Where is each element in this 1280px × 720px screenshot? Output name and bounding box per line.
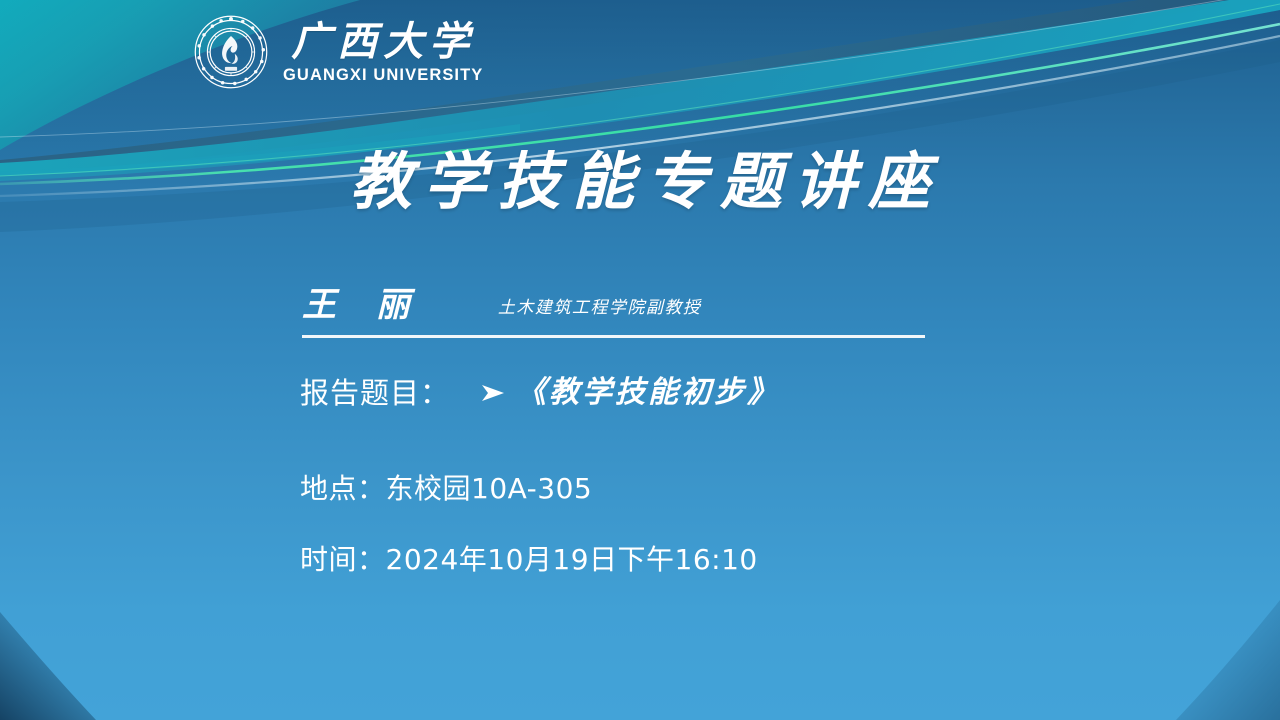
arrowhead-right-icon — [480, 382, 506, 404]
background-decoration — [0, 0, 1280, 720]
university-logo: 广西大学 GUANGXI UNIVERSITY — [193, 14, 483, 90]
thin-sweep-line — [0, 0, 1280, 137]
time-line: 时间：2024年10月19日下午16:10 — [300, 546, 758, 574]
presentation-slide: 广西大学 GUANGXI UNIVERSITY 教学技能专题讲座 王 丽 土木建… — [0, 0, 1280, 720]
speaker-row: 王 丽 土木建筑工程学院副教授 — [302, 288, 926, 322]
logo-wordmark: 广西大学 GUANGXI UNIVERSITY — [283, 20, 483, 84]
venue-line: 地点：东校园10A-305 — [300, 475, 592, 503]
topic-row: 报告题目： 《教学技能初步》 — [300, 378, 780, 408]
bottom-right-corner-shadow — [1176, 600, 1280, 720]
logo-chinese-name: 广西大学 — [291, 22, 475, 62]
topic-value: 《教学技能初步》 — [516, 378, 780, 408]
page-title: 教学技能专题讲座 — [0, 148, 1280, 216]
bottom-left-corner-shadow — [0, 612, 96, 720]
speaker-name: 王 丽 — [302, 288, 424, 322]
speaker-divider — [302, 335, 925, 338]
topic-label: 报告题目： — [300, 379, 450, 408]
guangxi-university-seal-icon — [193, 14, 269, 90]
speaker-affiliation: 土木建筑工程学院副教授 — [498, 300, 702, 322]
logo-english-name: GUANGXI UNIVERSITY — [283, 67, 483, 84]
